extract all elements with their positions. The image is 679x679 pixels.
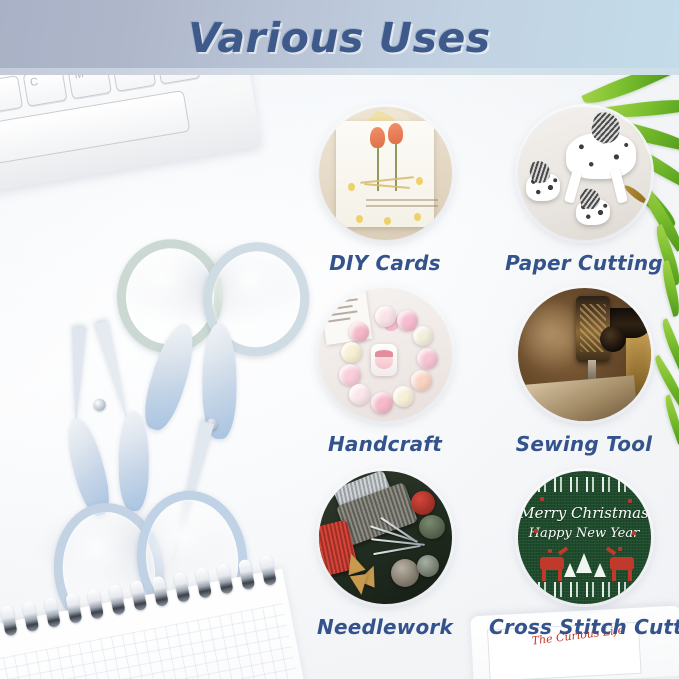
heart-dot [414,213,421,221]
reindeer-antler [605,546,615,555]
reindeer-antler [557,546,567,555]
header-banner: Various Uses [0,0,679,75]
card-message-text [366,199,438,211]
christmas-tree [564,563,576,577]
use-image-handcraft [319,288,452,421]
reindeer-leg [628,569,632,581]
stitch-dot [618,547,622,551]
page-title: Various Uses [0,0,679,75]
stitch-dot [540,497,544,501]
button [419,515,445,539]
hand-wheel [600,326,626,352]
use-cell-cross-stitch-cutting[interactable]: Merry Christmas Happy New Year [489,471,679,639]
use-label-paper-cutting: Paper Cutting [489,251,679,275]
use-label-sewing-tool: Sewing Tool [489,432,679,456]
decor-swirl [364,183,410,189]
use-image-needlework [319,471,452,604]
christmas-tree [594,563,606,577]
bead [341,342,362,363]
sewing-machine-photo [518,288,651,421]
tulip-flower [388,123,403,144]
use-cell-diy-cards[interactable]: DIY Cards [290,107,480,275]
use-image-diy-cards [319,107,452,240]
use-label-handcraft: Handcraft [290,432,480,456]
bead [397,310,418,331]
flower-stem [395,143,397,191]
heart-dot [384,217,391,225]
reindeer-leg [558,569,562,581]
paper-cut-photo [518,107,651,240]
use-cell-needlework[interactable]: Needlework [290,471,480,639]
use-label-cross-stitch-cutting: Cross Stitch Cutting [489,615,679,639]
use-image-sewing-tool [518,288,651,421]
stitch-dot [628,499,632,503]
bead [393,386,414,407]
button [391,559,419,587]
button [411,491,435,515]
bead [411,370,432,391]
diy-card-photo [319,107,452,240]
stitch-dot [632,531,636,535]
bead [349,322,369,342]
christmas-tree [576,553,592,573]
snowflake-border [518,582,651,597]
charm-pendant [371,344,397,376]
greeting-card [336,121,434,227]
use-cell-sewing-tool[interactable]: Sewing Tool [489,288,679,456]
uses-grid: DIY Cards Pap [0,75,679,679]
use-image-cross-stitch-cutting: Merry Christmas Happy New Year [518,471,651,604]
snowflake-border [518,477,651,492]
product-infographic: Various Uses 4 C C M [0,0,679,679]
needlework-photo [319,471,452,604]
bead [413,326,433,346]
bead [417,348,438,369]
photo-stage: 4 C C M [0,75,679,679]
heart-dot [356,215,363,223]
straight-pin [373,545,421,555]
use-cell-paper-cutting[interactable]: Paper Cutting [489,107,679,275]
christmas-cross-stitch-photo: Merry Christmas Happy New Year [518,471,651,604]
button [417,555,439,577]
heart-dot [348,183,355,191]
charm-hair [375,350,393,357]
fabric-sheet [524,375,637,421]
bead [375,306,396,327]
heart-dot [416,177,423,185]
tulip-flower [370,127,385,148]
gift-bow [349,574,370,596]
bead [339,364,361,386]
bead [349,384,370,405]
use-label-needlework: Needlework [290,615,480,639]
christmas-greeting-line-1: Merry Christmas [518,504,651,522]
stitch-dot [548,549,552,553]
use-label-diy-cards: DIY Cards [290,251,480,275]
background-blur [520,302,580,380]
reindeer-leg [542,569,546,581]
bead [371,392,393,414]
reindeer-leg [612,569,616,581]
use-cell-handcraft[interactable]: Handcraft [290,288,480,456]
stitch-dot [534,529,538,533]
handcraft-photo [319,288,452,421]
use-image-paper-cutting [518,107,651,240]
